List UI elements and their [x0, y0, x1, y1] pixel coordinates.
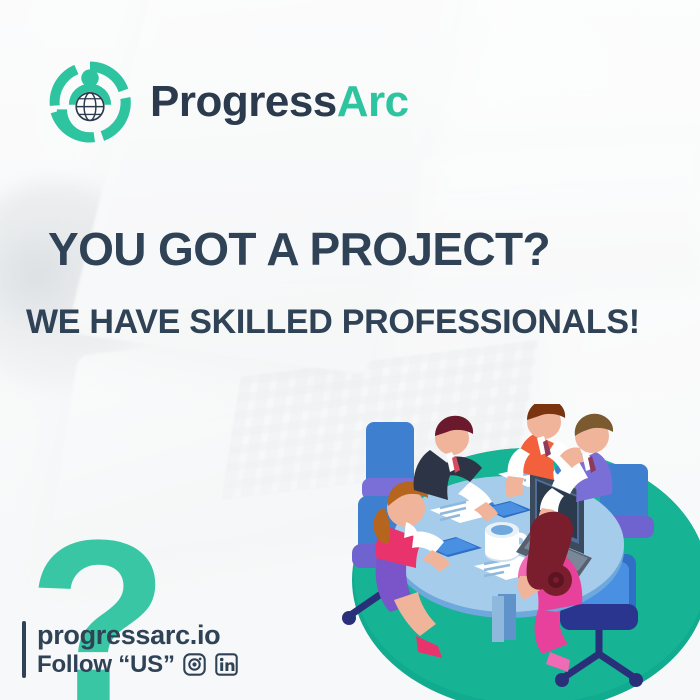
subheadline: WE HAVE SKILLED PROFESSIONALS!: [26, 305, 640, 340]
brand-wordmark: ProgressArc: [150, 77, 409, 127]
brand-name-primary: Progress: [150, 77, 337, 126]
people-globe-circle-logo-icon: [44, 56, 136, 148]
footer-accent-bar: [22, 621, 26, 678]
social-media-graphic: ?: [0, 0, 700, 700]
linkedin-icon[interactable]: [214, 652, 239, 677]
meeting-illustration: [334, 404, 700, 700]
headline: YOU GOT A PROJECT?: [48, 226, 550, 273]
brand-name-accent: Arc: [337, 77, 409, 126]
brand-logo: ProgressArc: [44, 56, 409, 148]
instagram-icon[interactable]: [182, 652, 207, 677]
website-url[interactable]: progressarc.io: [37, 621, 239, 651]
follow-label: Follow “US”: [37, 652, 175, 678]
footer: progressarc.io Follow “US”: [22, 621, 239, 678]
